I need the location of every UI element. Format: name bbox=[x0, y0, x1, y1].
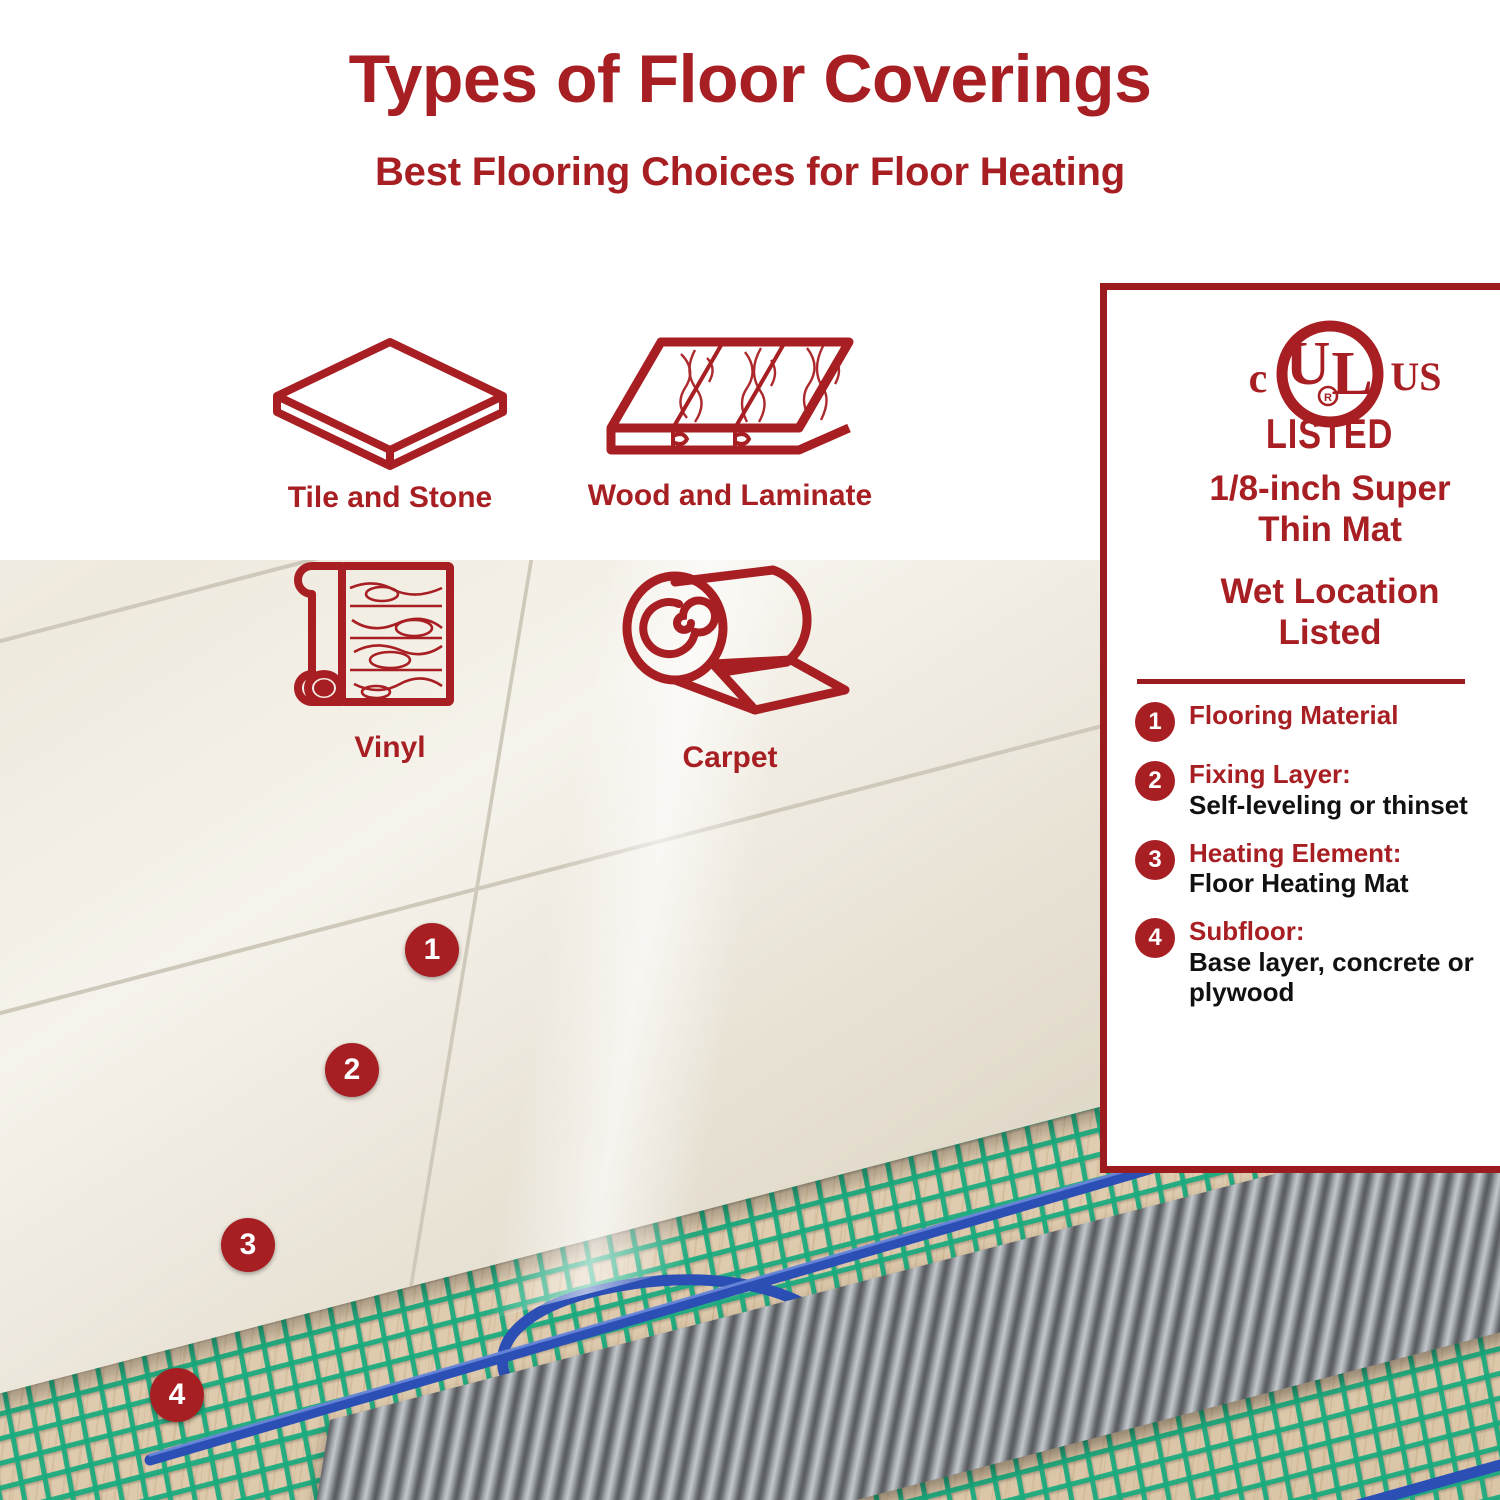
diagram-badge-4[interactable]: 4 bbox=[150, 1368, 204, 1422]
legend-number-3: 3 bbox=[1135, 840, 1175, 880]
legend-number-2: 2 bbox=[1135, 761, 1175, 801]
diagram-badge-2[interactable]: 2 bbox=[325, 1043, 379, 1097]
ul-listed-certification: U L R c US LISTED bbox=[1133, 318, 1500, 458]
wood-plank-icon bbox=[595, 328, 865, 468]
legend-item-1[interactable]: 1 Flooring Material bbox=[1135, 700, 1500, 742]
claim-line-4: Listed bbox=[1278, 613, 1381, 652]
legend-heading-2: Fixing Layer: bbox=[1189, 759, 1468, 790]
carpet-roll-icon bbox=[605, 560, 855, 730]
svg-text:US: US bbox=[1390, 354, 1441, 399]
legend-item-2[interactable]: 2 Fixing Layer: Self-leveling or thinset bbox=[1135, 759, 1500, 820]
flooring-type-vinyl[interactable]: Vinyl bbox=[240, 550, 540, 765]
legend-item-4[interactable]: 4 Subfloor: Base layer, concrete or plyw… bbox=[1135, 916, 1500, 1008]
flooring-type-label: Tile and Stone bbox=[240, 481, 540, 515]
claim-line-3: Wet Location bbox=[1220, 572, 1439, 611]
claim-line-2: Thin Mat bbox=[1258, 510, 1402, 549]
svg-text:c: c bbox=[1249, 356, 1268, 402]
vinyl-roll-icon bbox=[290, 550, 490, 720]
flooring-type-label: Carpet bbox=[570, 741, 890, 775]
tile-slab-icon bbox=[265, 330, 515, 470]
diagram-badge-3[interactable]: 3 bbox=[221, 1218, 275, 1272]
legend-number-4: 4 bbox=[1135, 918, 1175, 958]
flooring-type-label: Vinyl bbox=[240, 731, 540, 765]
legend-number-1: 1 bbox=[1135, 702, 1175, 742]
legend-heading-4: Subfloor: bbox=[1189, 916, 1500, 947]
flooring-types-group: Tile and Stone bbox=[210, 320, 970, 820]
claim-line-1: 1/8-inch Super bbox=[1209, 469, 1450, 508]
legend-body-2: Self-leveling or thinset bbox=[1189, 790, 1468, 821]
legend-heading-3: Heating Element: bbox=[1189, 838, 1409, 869]
product-claim-wet-location: Wet Location Listed bbox=[1133, 571, 1500, 654]
section-divider bbox=[1137, 679, 1465, 684]
ul-listed-icon: U L R c US LISTED bbox=[1200, 318, 1460, 458]
product-claim-thin-mat: 1/8-inch Super Thin Mat bbox=[1133, 468, 1500, 551]
infographic-canvas: Types of Floor Coverings Best Flooring C… bbox=[0, 0, 1500, 1500]
flooring-type-label: Wood and Laminate bbox=[560, 479, 900, 513]
page-subtitle: Best Flooring Choices for Floor Heating bbox=[0, 150, 1500, 195]
legend-item-3[interactable]: 3 Heating Element: Floor Heating Mat bbox=[1135, 838, 1500, 899]
flooring-type-carpet[interactable]: Carpet bbox=[570, 560, 890, 775]
legend-body-4: Base layer, concrete or plywood bbox=[1189, 947, 1500, 1008]
diagram-badge-1[interactable]: 1 bbox=[405, 923, 459, 977]
layer-legend-list: 1 Flooring Material 2 Fixing Layer: Self… bbox=[1135, 700, 1500, 1008]
product-info-box: U L R c US LISTED 1/8-inch Super Thin Ma… bbox=[1100, 283, 1500, 1173]
legend-body-3: Floor Heating Mat bbox=[1189, 868, 1409, 899]
page-title: Types of Floor Coverings bbox=[0, 44, 1500, 115]
svg-text:R: R bbox=[1324, 392, 1332, 404]
svg-text:LISTED: LISTED bbox=[1266, 411, 1393, 458]
flooring-type-tile-and-stone[interactable]: Tile and Stone bbox=[240, 330, 540, 515]
legend-heading-1: Flooring Material bbox=[1189, 700, 1398, 731]
flooring-type-wood-and-laminate[interactable]: Wood and Laminate bbox=[560, 328, 900, 513]
